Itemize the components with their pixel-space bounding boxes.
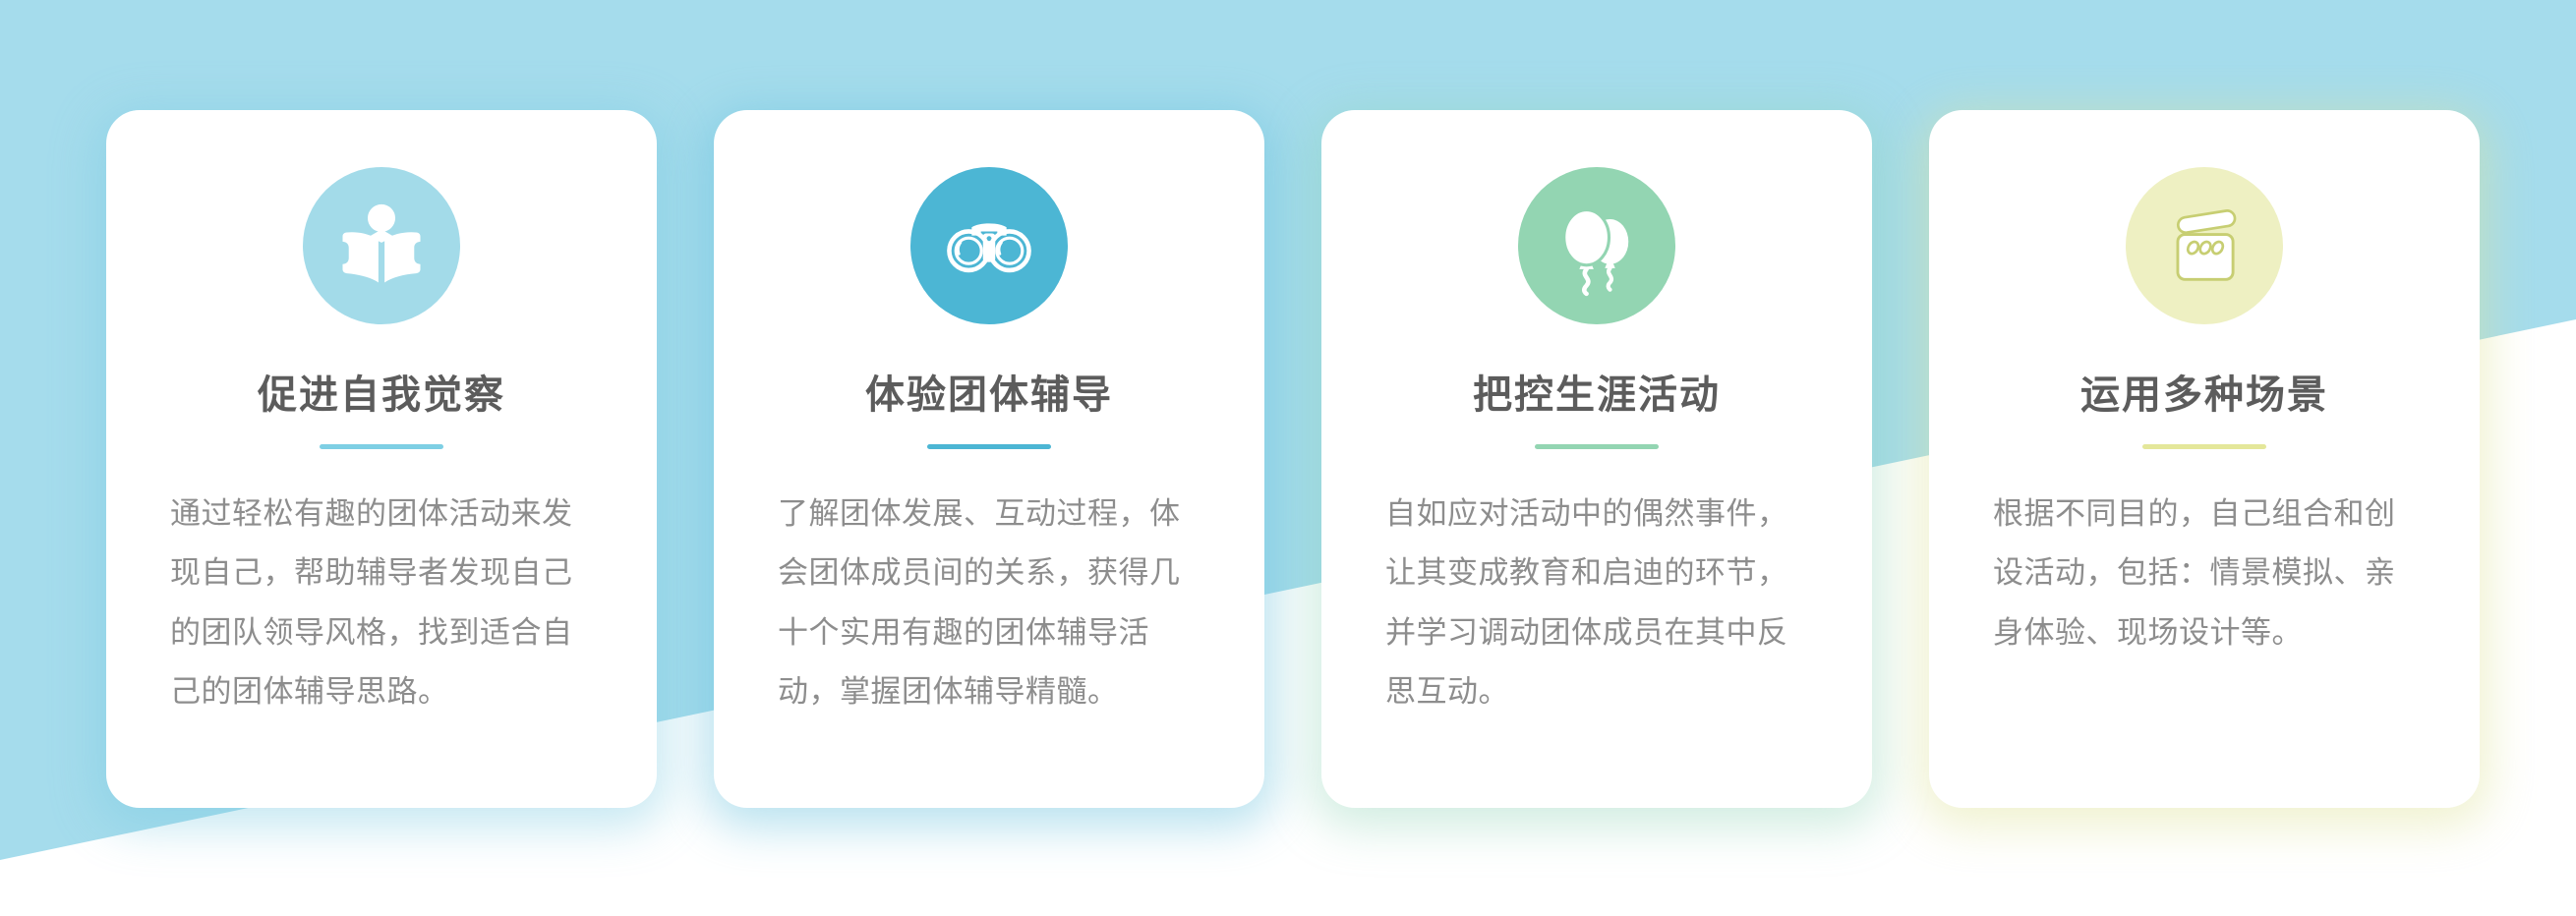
balloons-icon <box>1518 167 1675 324</box>
card-title: 运用多种场景 <box>2080 375 2328 415</box>
card-accent-rule <box>2142 444 2266 449</box>
card-title: 体验团体辅导 <box>865 375 1113 415</box>
page-root: 促进自我觉察 通过轻松有趣的团体活动来发现自己，帮助辅导者发现自己的团队领导风格… <box>0 0 2576 916</box>
person-reading-book-icon <box>303 167 460 324</box>
feature-card-career-activities[interactable]: 把控生涯活动 自如应对活动中的偶然事件，让其变成教育和启迪的环节，并学习调动团体… <box>1321 110 1872 808</box>
card-body-text: 自如应对活动中的偶然事件，让其变成教育和启迪的环节，并学习调动团体成员在其中反思… <box>1385 485 1808 722</box>
feature-card-list: 促进自我觉察 通过轻松有趣的团体活动来发现自己，帮助辅导者发现自己的团队领导风格… <box>0 0 2576 916</box>
feature-card-group-counseling[interactable]: 体验团体辅导 了解团体发展、互动过程，体会团体成员间的关系，获得几十个实用有趣的… <box>714 110 1264 808</box>
card-body-text: 根据不同目的，自己组合和创设活动，包括：情景模拟、亲身体验、现场设计等。 <box>1993 485 2416 662</box>
card-title: 促进自我觉察 <box>258 375 505 415</box>
binoculars-icon <box>910 167 1068 324</box>
card-accent-rule <box>1535 444 1659 449</box>
feature-card-self-awareness[interactable]: 促进自我觉察 通过轻松有趣的团体活动来发现自己，帮助辅导者发现自己的团队领导风格… <box>106 110 657 808</box>
card-accent-rule <box>320 444 443 449</box>
card-body-text: 通过轻松有趣的团体活动来发现自己，帮助辅导者发现自己的团队领导风格，找到适合自己… <box>170 485 593 722</box>
feature-card-multiple-scenarios[interactable]: 运用多种场景 根据不同目的，自己组合和创设活动，包括：情景模拟、亲身体验、现场设… <box>1929 110 2480 808</box>
clapperboard-icon <box>2126 167 2283 324</box>
card-accent-rule <box>927 444 1051 449</box>
card-body-text: 了解团体发展、互动过程，体会团体成员间的关系，获得几十个实用有趣的团体辅导活动，… <box>778 485 1200 722</box>
card-title: 把控生涯活动 <box>1473 375 1721 415</box>
